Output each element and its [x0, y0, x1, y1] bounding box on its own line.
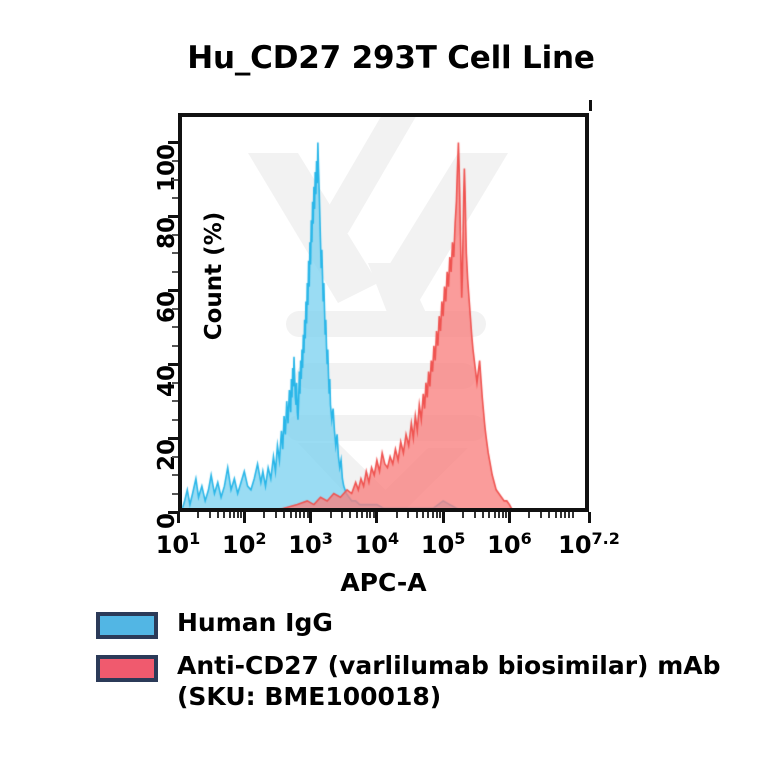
- x-tick-major: [508, 512, 511, 523]
- x-tick-minor: [560, 512, 562, 518]
- x-tick-minor: [366, 512, 368, 518]
- x-tick-minor: [197, 512, 199, 518]
- x-tick-minor: [341, 512, 343, 518]
- chart-legend: Human IgG Anti-CD27 (varlilumab biosimil…: [96, 608, 756, 724]
- y-tick-minor: [172, 382, 178, 384]
- x-tick-minor: [369, 512, 371, 518]
- x-tick-minor: [330, 512, 332, 518]
- y-tick-label: 80: [154, 217, 180, 269]
- x-tick-minor: [295, 512, 297, 518]
- x-tick-minor: [307, 512, 309, 518]
- x-tick-minor: [568, 512, 570, 518]
- x-tick-major: [243, 512, 246, 523]
- x-tick-major: [588, 512, 591, 523]
- x-tick-label: 107.2: [544, 529, 634, 559]
- y-tick-minor: [172, 493, 178, 495]
- x-tick-minor: [498, 512, 500, 518]
- x-tick-minor: [229, 512, 231, 518]
- y-axis-label: Count (%): [201, 176, 227, 376]
- x-tick-minor: [275, 512, 277, 518]
- y-tick-minor: [172, 308, 178, 310]
- plot-area: Count (%) APC-A 020406080100101102103104…: [178, 113, 589, 512]
- y-tick-minor: [172, 160, 178, 162]
- x-tick-minor: [349, 512, 351, 518]
- x-tick-minor: [290, 512, 292, 518]
- x-tick-minor: [283, 512, 285, 518]
- x-tick-minor: [564, 512, 566, 518]
- legend-swatch-anti-cd27: [96, 655, 158, 682]
- x-tick-minor: [407, 512, 409, 518]
- x-tick-minor: [502, 512, 504, 518]
- x-tick-minor: [528, 512, 530, 518]
- top-right-tick: [589, 100, 592, 111]
- legend-swatch-human-igg: [96, 612, 158, 639]
- y-tick-minor: [172, 271, 178, 273]
- plot-frame: [178, 113, 589, 512]
- x-tick-minor: [572, 512, 574, 518]
- x-tick-minor: [416, 512, 418, 518]
- y-tick-minor: [172, 400, 178, 402]
- x-tick-minor: [373, 512, 375, 518]
- x-tick-major: [375, 512, 378, 523]
- y-tick-minor: [172, 197, 178, 199]
- legend-label-human-igg: Human IgG: [177, 608, 333, 639]
- x-tick-minor: [396, 512, 398, 518]
- x-tick-minor: [427, 512, 429, 518]
- x-tick-minor: [505, 512, 507, 518]
- y-tick-minor: [172, 234, 178, 236]
- x-tick-minor: [233, 512, 235, 518]
- x-axis-label: APC-A: [178, 568, 589, 597]
- y-tick-label: 60: [154, 291, 180, 343]
- x-tick-minor: [439, 512, 441, 518]
- x-tick-major: [309, 512, 312, 523]
- x-tick-minor: [482, 512, 484, 518]
- y-tick-minor: [172, 419, 178, 421]
- y-tick-minor: [172, 179, 178, 181]
- y-tick-minor: [172, 474, 178, 476]
- y-tick-label: 100: [154, 144, 180, 196]
- y-tick-label: 40: [154, 365, 180, 417]
- x-tick-minor: [240, 512, 242, 518]
- flow-cytometry-figure: Hu_CD27 293T Cell Line Count (%) APC-A 0…: [0, 0, 782, 782]
- legend-item-anti-cd27[interactable]: Anti-CD27 (varlilumab biosimilar) mAb (S…: [96, 651, 756, 712]
- y-tick-minor: [172, 326, 178, 328]
- y-tick-minor: [172, 345, 178, 347]
- x-tick-minor: [263, 512, 265, 518]
- x-tick-minor: [436, 512, 438, 518]
- x-tick-minor: [361, 512, 363, 518]
- y-tick-minor: [172, 252, 178, 254]
- y-tick-label: 20: [154, 439, 180, 491]
- x-tick-minor: [548, 512, 550, 518]
- legend-item-human-igg[interactable]: Human IgG: [96, 608, 756, 639]
- x-tick-minor: [223, 512, 225, 518]
- x-tick-label: 106: [464, 529, 554, 559]
- chart-title: Hu_CD27 293T Cell Line: [0, 40, 782, 76]
- x-tick-minor: [356, 512, 358, 518]
- x-tick-major: [442, 512, 445, 523]
- x-tick-minor: [299, 512, 301, 518]
- x-tick-minor: [237, 512, 239, 518]
- y-tick-minor: [172, 456, 178, 458]
- x-tick-minor: [494, 512, 496, 518]
- x-tick-minor: [303, 512, 305, 518]
- x-tick-minor: [474, 512, 476, 518]
- x-tick-minor: [432, 512, 434, 518]
- x-tick-minor: [488, 512, 490, 518]
- x-tick-minor: [462, 512, 464, 518]
- x-tick-major: [177, 512, 180, 523]
- x-tick-minor: [217, 512, 219, 518]
- legend-label-anti-cd27: Anti-CD27 (varlilumab biosimilar) mAb (S…: [177, 651, 737, 712]
- x-tick-minor: [555, 512, 557, 518]
- x-tick-minor: [540, 512, 542, 518]
- x-tick-minor: [422, 512, 424, 518]
- x-tick-minor: [209, 512, 211, 518]
